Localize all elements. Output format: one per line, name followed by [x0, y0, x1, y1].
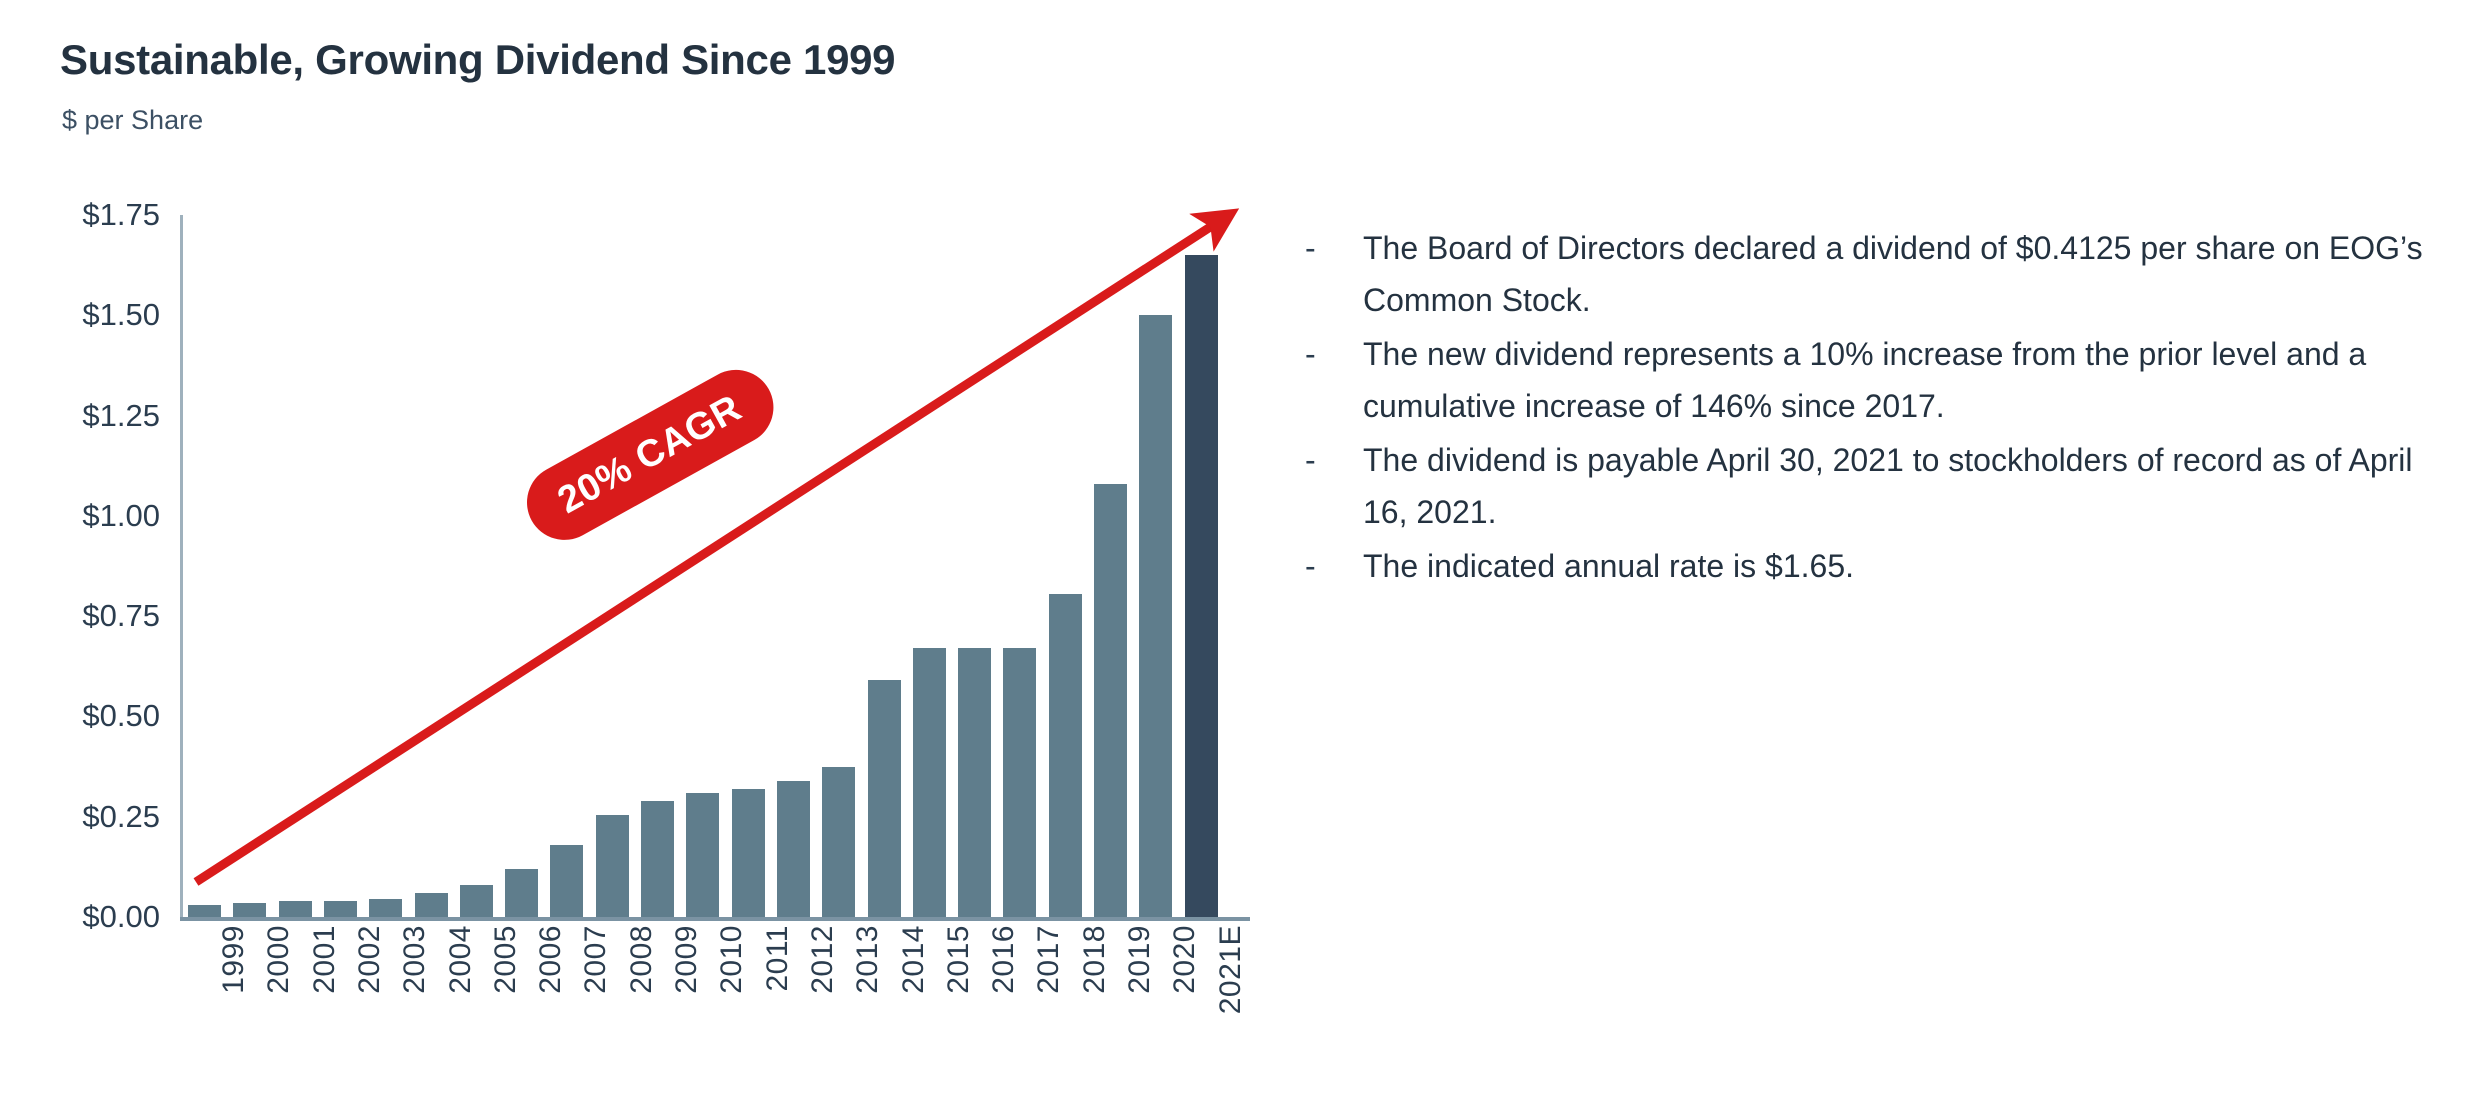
bar-2008[interactable]: [596, 815, 629, 917]
y-axis-line: [180, 215, 183, 918]
x-tick-label: 2016: [987, 925, 1021, 994]
bullet-dash-icon: -: [1305, 434, 1363, 486]
y-tick-label: $0.25: [30, 799, 160, 835]
bar-2020[interactable]: [1139, 315, 1172, 917]
x-tick-label: 2005: [489, 925, 523, 994]
x-tick-label: 2020: [1168, 925, 1202, 994]
x-tick-label: 2006: [534, 925, 568, 994]
note-item: -The new dividend represents a 10% incre…: [1305, 328, 2435, 432]
x-axis-line: [180, 917, 1250, 921]
y-tick-label: $0.00: [30, 899, 160, 935]
x-tick-label: 2008: [625, 925, 659, 994]
note-text: The indicated annual rate is $1.65.: [1363, 540, 2435, 592]
bar-1999[interactable]: [188, 905, 221, 917]
bar-2001[interactable]: [279, 901, 312, 917]
note-text: The dividend is payable April 30, 2021 t…: [1363, 434, 2435, 538]
x-tick-label: 2004: [444, 925, 478, 994]
note-text: The Board of Directors declared a divide…: [1363, 222, 2435, 326]
bar-2006[interactable]: [505, 869, 538, 917]
x-tick-label: 2012: [806, 925, 840, 994]
bar-2010[interactable]: [686, 793, 719, 917]
x-tick-label: 2011: [761, 925, 795, 992]
x-tick-label: 1999: [217, 925, 251, 994]
y-tick-label: $1.25: [30, 398, 160, 434]
x-tick-label: 2001: [308, 925, 342, 994]
y-tick-label: $0.50: [30, 698, 160, 734]
x-axis: 1999200020012002200320042005200620072008…: [180, 925, 1280, 1095]
bar-2011[interactable]: [732, 789, 765, 917]
y-tick-label: $0.75: [30, 598, 160, 634]
bar-2018[interactable]: [1049, 594, 1082, 917]
x-tick-label: 2010: [715, 925, 749, 994]
x-tick-label: 2002: [353, 925, 387, 994]
bar-2016[interactable]: [958, 648, 991, 917]
bar-2009[interactable]: [641, 801, 674, 917]
bar-2013[interactable]: [822, 767, 855, 917]
x-tick-label: 2017: [1032, 925, 1066, 994]
x-tick-label: 2013: [851, 925, 885, 994]
x-tick-label: 2015: [942, 925, 976, 994]
bar-2002[interactable]: [324, 901, 357, 917]
bar-2014[interactable]: [868, 680, 901, 917]
bullet-dash-icon: -: [1305, 328, 1363, 380]
x-tick-label: 2000: [262, 925, 296, 994]
bar-2003[interactable]: [369, 899, 402, 917]
bar-2004[interactable]: [415, 893, 448, 917]
x-tick-label: 2007: [579, 925, 613, 994]
note-item: -The indicated annual rate is $1.65.: [1305, 540, 2435, 592]
bullet-dash-icon: -: [1305, 540, 1363, 592]
note-text: The new dividend represents a 10% increa…: [1363, 328, 2435, 432]
bar-2019[interactable]: [1094, 484, 1127, 917]
note-item: -The Board of Directors declared a divid…: [1305, 222, 2435, 326]
bar-2007[interactable]: [550, 845, 583, 917]
x-tick-label: 2003: [398, 925, 432, 994]
y-tick-label: $1.75: [30, 197, 160, 233]
y-tick-label: $1.00: [30, 498, 160, 534]
bar-2005[interactable]: [460, 885, 493, 917]
x-tick-label: 2009: [670, 925, 704, 994]
bar-2000[interactable]: [233, 903, 266, 917]
y-axis: $1.75$1.50$1.25$1.00$0.75$0.50$0.25$0.00: [30, 0, 160, 1097]
dividend-bar-chart: $1.75$1.50$1.25$1.00$0.75$0.50$0.25$0.00…: [0, 0, 1300, 1097]
x-tick-label: 2018: [1078, 925, 1112, 994]
plot-area: [180, 215, 1252, 921]
x-tick-label: 2019: [1123, 925, 1157, 994]
bullet-dash-icon: -: [1305, 222, 1363, 274]
x-tick-label: 2021E: [1214, 925, 1248, 1014]
bar-2021E[interactable]: [1185, 255, 1218, 917]
bar-2017[interactable]: [1003, 648, 1036, 917]
notes-panel: -The Board of Directors declared a divid…: [1305, 222, 2435, 594]
bar-2015[interactable]: [913, 648, 946, 917]
note-item: -The dividend is payable April 30, 2021 …: [1305, 434, 2435, 538]
bar-2012[interactable]: [777, 781, 810, 917]
x-tick-label: 2014: [897, 925, 931, 994]
y-tick-label: $1.50: [30, 297, 160, 333]
